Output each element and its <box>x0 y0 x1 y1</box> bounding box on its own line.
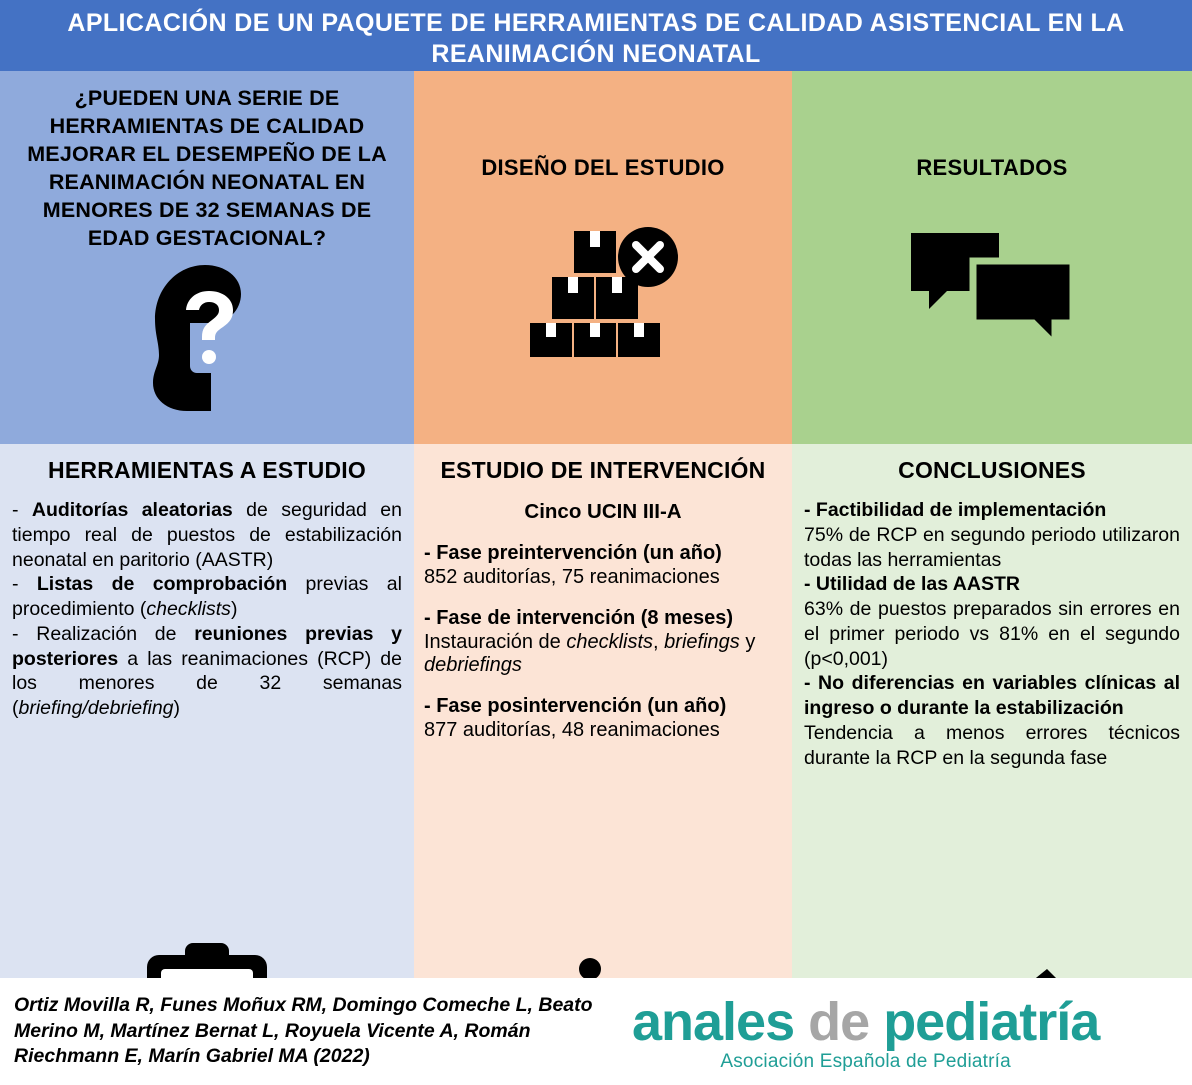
question-text: ¿PUEDEN UNA SERIE DE HERRAMIENTAS DE CAL… <box>0 71 414 253</box>
phase-2-title: - Fase de intervención (8 meses) <box>424 607 782 630</box>
footer: Ortiz Movilla R, Funes Moñux RM, Domingo… <box>0 978 1192 1085</box>
results-heading: RESULTADOS <box>792 71 1192 181</box>
panel-study-design: DISEÑO DEL ESTUDIO <box>414 71 792 444</box>
phase-2-body: Instauración de checklists, briefings y … <box>424 631 782 677</box>
phase-3-title: - Fase posintervención (un año) <box>424 695 782 718</box>
tools-heading: HERRAMIENTAS A ESTUDIO <box>0 444 414 484</box>
tools-body: - Auditorías aleatorias de seguridad en … <box>0 484 414 721</box>
conclusion-block-3: - No diferencias en variables clínicas a… <box>804 671 1180 770</box>
intervention-heading: ESTUDIO DE INTERVENCIÓN <box>414 444 792 484</box>
journal-logo: anales de pediatría Asociación Española … <box>632 991 1099 1073</box>
conclusion-block-2: - Utilidad de las AASTR 63% de puestos p… <box>804 572 1180 671</box>
conclusions-heading: CONCLUSIONES <box>792 444 1192 484</box>
intervention-body: Cinco UCIN III-A - Fase preintervención … <box>414 500 792 742</box>
conclusion-1-head: - Factibilidad de implementación <box>804 498 1180 523</box>
conclusion-1-body: 75% de RCP en segundo periodo utilizaron… <box>804 523 1180 573</box>
infographic-poster: APLICACIÓN DE UN PAQUETE DE HERRAMIENTAS… <box>0 0 1192 1085</box>
author-list: Ortiz Movilla R, Funes Moñux RM, Domingo… <box>0 993 614 1070</box>
brand-wordmark: anales de pediatría <box>632 995 1099 1049</box>
brand-subtitle: Asociación Española de Pediatría <box>632 1051 1099 1073</box>
top-row: ¿PUEDEN UNA SERIE DE HERRAMIENTAS DE CAL… <box>0 71 1192 444</box>
page-title: APLICACIÓN DE UN PAQUETE DE HERRAMIENTAS… <box>0 0 1192 71</box>
tools-item-2: - Listas de comprobación previas al proc… <box>12 572 402 622</box>
conclusion-3-body: Tendencia a menos errores técnicos duran… <box>804 721 1180 771</box>
head-question-mark-icon <box>0 263 414 413</box>
brand-word-de: de <box>808 992 869 1052</box>
intervention-subtitle: Cinco UCIN III-A <box>424 500 782 524</box>
conclusion-2-body: 63% de puestos preparados sin errores en… <box>804 597 1180 671</box>
brand-word-anales: anales <box>632 992 794 1052</box>
panel-question: ¿PUEDEN UNA SERIE DE HERRAMIENTAS DE CAL… <box>0 71 414 444</box>
conclusions-body: - Factibilidad de implementación 75% de … <box>792 484 1192 770</box>
phase-1-body: 852 auditorías, 75 reanimaciones <box>424 566 782 589</box>
tools-item-3: - Realización de reuniones previas y pos… <box>12 622 402 721</box>
tools-item-1: - Auditorías aleatorias de seguridad en … <box>12 498 402 572</box>
panel-results: RESULTADOS <box>792 71 1192 444</box>
conclusion-2-head: - Utilidad de las AASTR <box>804 572 1180 597</box>
phase-3-body: 877 auditorías, 48 reanimaciones <box>424 719 782 742</box>
brand-word-pediatria: pediatría <box>883 992 1099 1052</box>
phase-1-title: - Fase preintervención (un año) <box>424 542 782 565</box>
conclusion-3-head: - No diferencias en variables clínicas a… <box>804 671 1180 721</box>
study-design-heading: DISEÑO DEL ESTUDIO <box>414 71 792 181</box>
speech-bubbles-icon <box>792 227 1192 347</box>
boxes-error-icon <box>414 219 792 359</box>
conclusion-block-1: - Factibilidad de implementación 75% de … <box>804 498 1180 572</box>
